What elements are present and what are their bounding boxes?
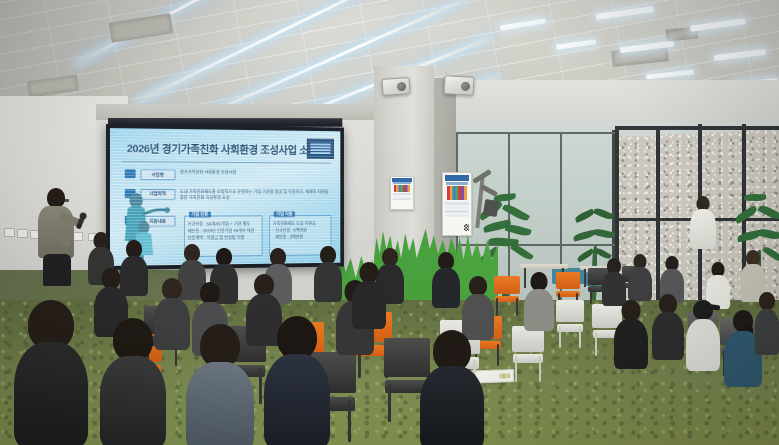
folding-chair-white[interactable] (556, 300, 584, 348)
slide-box-heading: 기업 인증 (189, 212, 211, 218)
slide-box-line: 인증혜택 : 지원금 및 컨설팅 지원 (188, 234, 259, 241)
audience-member (432, 252, 460, 304)
right-upper-wall (456, 80, 779, 126)
slide-title-rule (122, 161, 332, 163)
slide-row-tag: 사업명 (140, 170, 175, 181)
audience-member-foreground (100, 318, 166, 445)
slide-row-text: 경기가족친화 사회환경 조성사업 (180, 170, 236, 177)
audience-member-with-cap (686, 300, 720, 370)
audience-member (352, 262, 386, 326)
wall-speaker-icon (444, 75, 475, 96)
glasses-icon (57, 199, 69, 202)
audience-member (628, 254, 652, 300)
audience-member-foreground (420, 330, 484, 445)
presenter-trousers (43, 254, 71, 286)
poster-left[interactable] (390, 176, 414, 210)
background-desk (520, 264, 568, 269)
audience-member (602, 258, 626, 304)
poster-right[interactable] (442, 172, 472, 236)
folding-chair-white[interactable] (512, 326, 544, 382)
slide-box-line: 재인증 : 2023년 인증기업 45개사 대상 (188, 228, 259, 235)
organization-logo-icon (307, 139, 334, 159)
wall-switch[interactable] (4, 228, 15, 237)
bullet-square-icon (124, 169, 135, 178)
audience-member (614, 300, 648, 366)
audience-member (754, 292, 779, 354)
audience-member (652, 294, 684, 358)
slide-box-heading: 기업 지원 (274, 212, 296, 218)
standing-attendee (690, 196, 716, 248)
slide-row-business-name: 사업명 경기가족친화 사회환경 조성사업 (124, 169, 331, 181)
slide-box-line: - 재인증 : 3백만원 (273, 234, 328, 241)
seminar-room-photograph: 2026년 경기가족친화 사회환경 조성사업 소개 사업명 경기가족친화 사회환… (0, 0, 779, 445)
slide-row-text: 도내 가족친화제도를 모범적으로 운영하는 기업·기관을 발굴 및 인증하고, … (180, 189, 330, 202)
audience-member (462, 276, 494, 336)
monitor-arm-head (483, 199, 500, 217)
slide-title: 2026년 경기가족친화 사회환경 조성사업 소개 (127, 141, 305, 158)
audience-member (524, 272, 554, 328)
audience-member-foreground (14, 300, 88, 445)
folding-chair-orange[interactable] (494, 276, 520, 316)
audience-member-foreground (264, 316, 330, 444)
wall-speaker-icon (381, 77, 410, 96)
audience-member-foreground (186, 324, 254, 445)
wall-outlet[interactable] (73, 232, 83, 241)
wall-switch[interactable] (17, 229, 28, 238)
